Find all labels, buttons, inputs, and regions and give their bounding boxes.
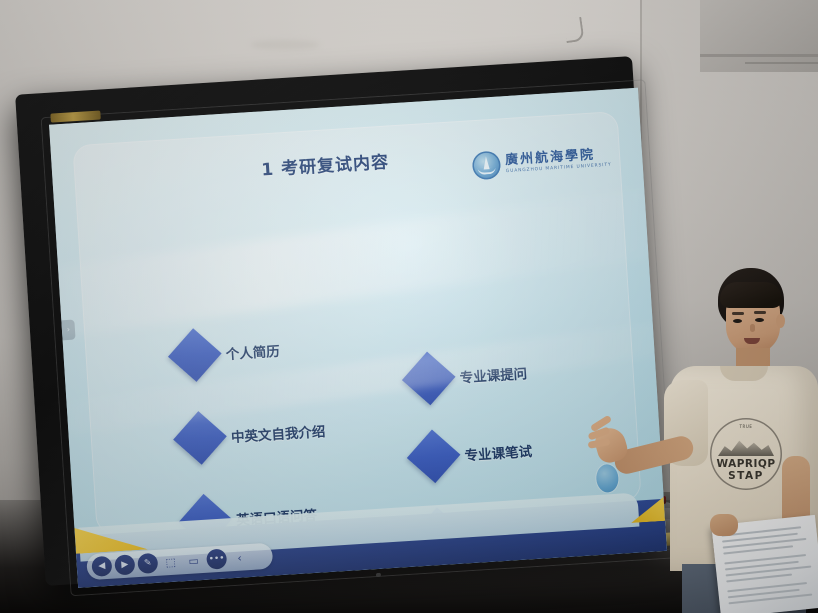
diamond-bullet-icon	[407, 429, 461, 483]
bullet-label: 专业课笔试	[464, 440, 533, 464]
power-led	[376, 573, 381, 577]
tshirt-collar	[720, 366, 768, 381]
nose	[750, 324, 755, 332]
eye-right	[755, 318, 764, 322]
bullet-label: 中英文自我介绍	[230, 420, 326, 446]
diamond-bullet-icon	[168, 328, 222, 382]
screen-side-tab[interactable]: ›	[61, 320, 75, 341]
wall-mark-secondary	[250, 40, 320, 50]
hand-right-holding-document	[710, 514, 738, 536]
diamond-bullet-icon	[173, 411, 227, 465]
interactive-display: GMU 1考研复试内容 廣州航海學	[0, 37, 687, 597]
tshirt-graphic-line1: WAPRIQP	[712, 458, 780, 470]
tshirt-graphic-top-text: TRUE	[722, 424, 770, 429]
tshirt-graphic-line2: STAP	[712, 470, 780, 482]
presenter: TRUE WAPRIQP STAP	[666, 268, 818, 613]
bullet-item: 专业课笔试	[413, 431, 533, 476]
bullet-item: 中英文自我介绍	[180, 411, 327, 458]
eyebrow-right	[754, 311, 766, 314]
display-bezel: GMU 1考研复试内容 廣州航海學	[15, 56, 663, 586]
eyebrow-left	[732, 312, 744, 315]
collapse-chevron-icon[interactable]: ‹	[229, 547, 250, 568]
ear	[776, 314, 785, 328]
back-arrow-icon[interactable]: ◀	[91, 556, 112, 577]
screenshot-icon[interactable]: ⬚	[160, 551, 181, 572]
pen-icon[interactable]: ✎	[137, 553, 158, 574]
bullet-item: 个人简历	[175, 331, 281, 375]
eye-left	[733, 319, 742, 323]
video-camera-icon[interactable]: ▭	[183, 550, 204, 571]
bullet-item: 专业课提问	[409, 353, 529, 398]
bullet-label: 个人简历	[225, 340, 280, 363]
photo-scene: GMU 1考研复试内容 廣州航海學	[0, 0, 818, 613]
diamond-bullet-icon	[402, 352, 456, 406]
bullet-label: 专业课提问	[459, 362, 528, 386]
display-screen[interactable]: 1考研复试内容 廣州航海學院 GUANGZHOU MARITIME UNIVER…	[49, 88, 667, 588]
play-icon[interactable]: ▶	[114, 554, 135, 575]
presentation-slide: 1考研复试内容 廣州航海學院 GUANGZHOU MARITIME UNIVER…	[49, 88, 667, 588]
ceiling-seam-secondary	[745, 62, 818, 64]
more-options-icon[interactable]: •••	[206, 548, 227, 569]
ceiling-seam	[700, 54, 818, 57]
hair-fringe	[720, 282, 782, 308]
